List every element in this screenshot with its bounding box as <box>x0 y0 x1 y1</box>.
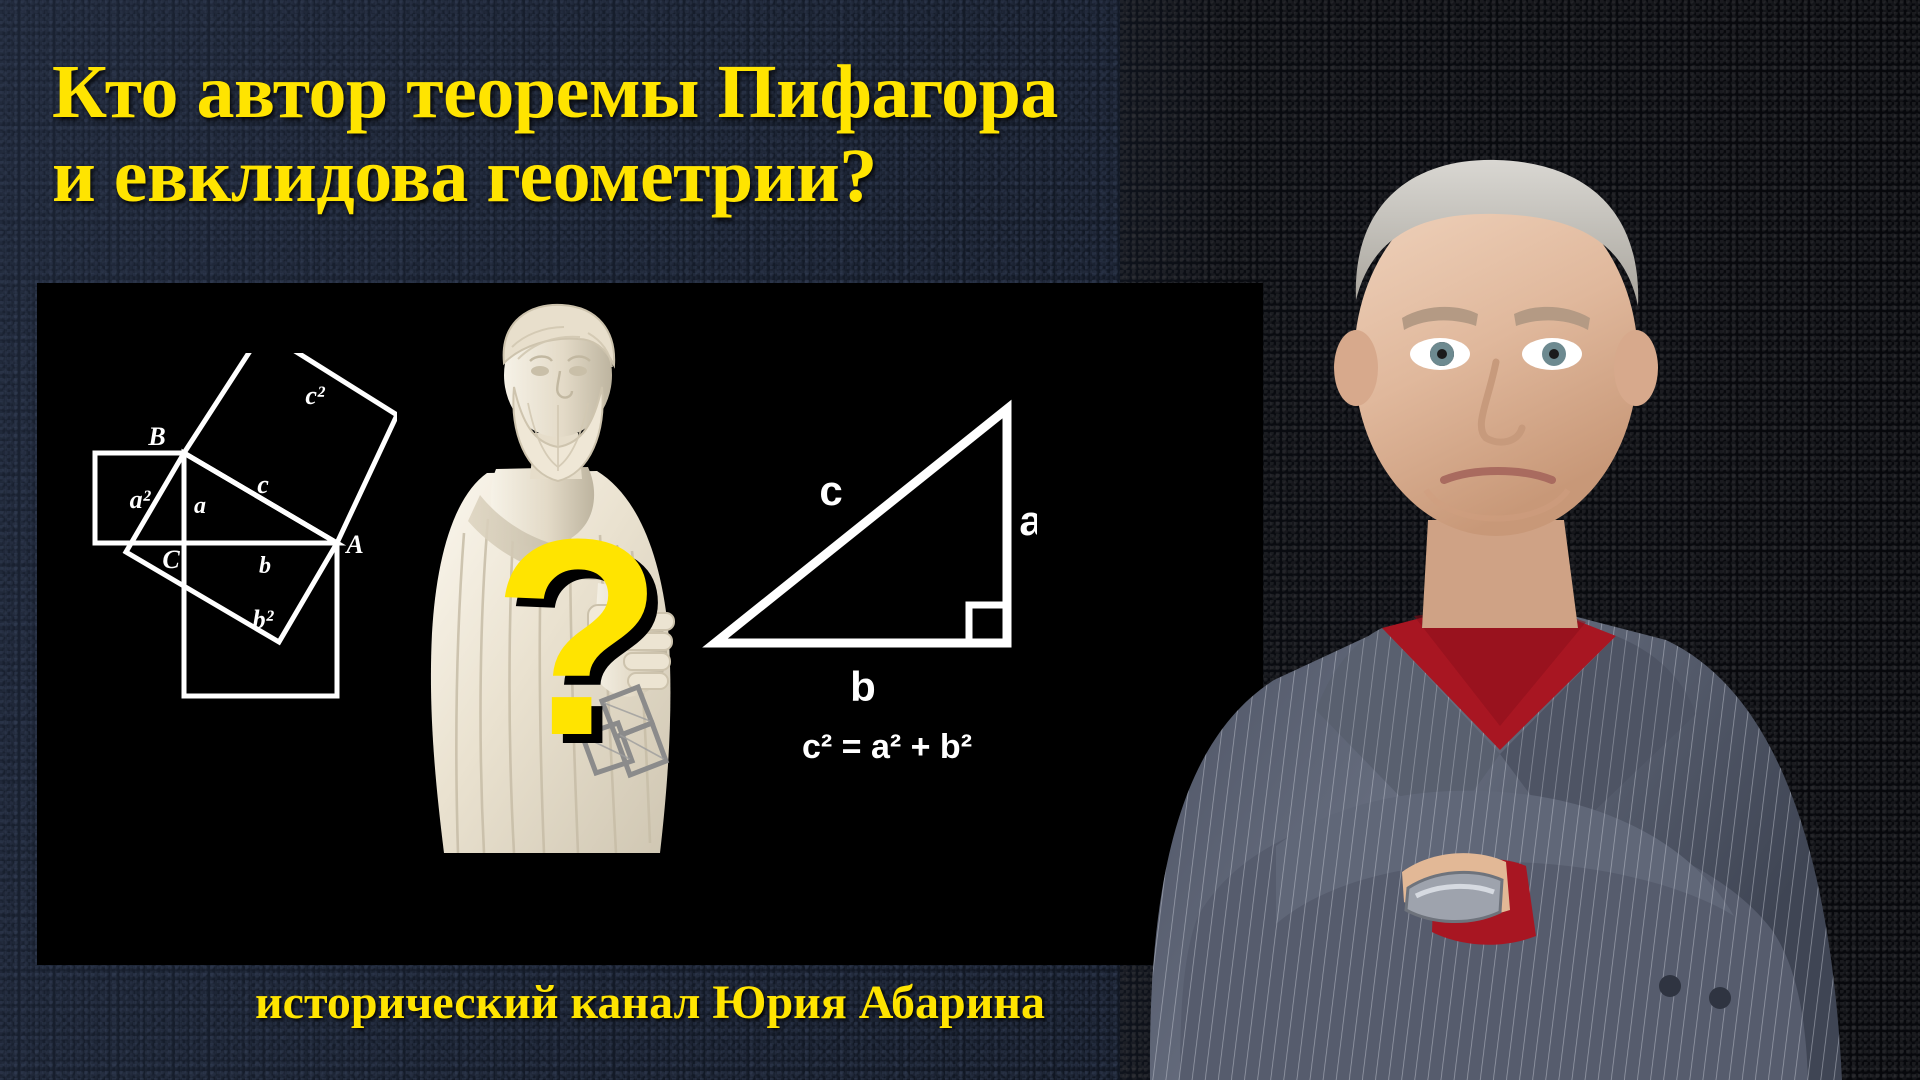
pythagorean-formula: c² = a² + b² <box>737 728 1037 767</box>
squares-area-label-a2: a² <box>130 485 152 514</box>
right-angle-marker <box>969 605 1007 643</box>
squares-area-label-b2: b² <box>253 605 275 634</box>
thumbnail-canvas: Кто автор теоремы Пифагора и евклидова г… <box>0 0 1920 1080</box>
triangle-label-b: b <box>850 663 876 710</box>
squares-vertex-label-C: C <box>162 545 180 574</box>
ear-right <box>1614 330 1658 406</box>
question-mark-overlay: ? <box>492 528 663 748</box>
squares-vertex-label-B: B <box>147 422 165 451</box>
triangle-outline <box>715 409 1007 643</box>
right-triangle-diagram: c a b <box>697 383 1037 713</box>
squares-side-label-c: c <box>257 470 269 499</box>
wristwatch <box>1406 872 1502 921</box>
ear-left <box>1334 330 1378 406</box>
squares-area-label-c2: c² <box>305 381 326 410</box>
neck <box>1422 520 1578 628</box>
squares-side-label-b: b <box>259 553 271 579</box>
squares-side-label-a: a <box>194 493 206 519</box>
pythagoras-squares-diagram: B C A a² b² c² a b c <box>67 353 397 773</box>
squares-vertex-label-A: A <box>344 530 363 559</box>
presenter-portrait <box>1030 50 1920 1080</box>
triangle-label-c: c <box>819 467 842 514</box>
